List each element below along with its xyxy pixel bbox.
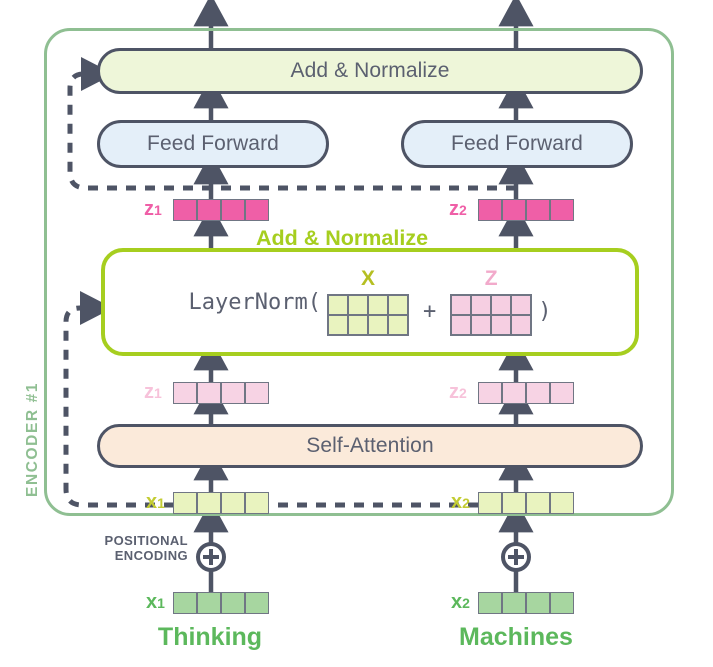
encoder-label: ENCODER #1 [24,382,42,497]
matrix-cell [368,295,388,315]
vector-cell [478,382,502,404]
vector-cell [550,382,574,404]
feed-forward-left-block[interactable]: Feed Forward [97,120,329,168]
vector-cell [245,199,269,221]
vector-cell [502,492,526,514]
matrix-row [328,315,408,335]
matrix-row [328,295,408,315]
positional-encoding-line1: POSITIONAL [105,533,188,548]
vector-cell [197,492,221,514]
matrix-cell [328,295,348,315]
vector-cell [221,199,245,221]
vector-cell [245,492,269,514]
vector-cell [197,382,221,404]
vector-x1-emb [173,592,269,614]
matrix-cell [511,295,531,315]
vector-cell [526,382,550,404]
vector-cell [197,199,221,221]
self-attention-label: Self-Attention [306,434,433,458]
vector-label-x1-emb: x1 [146,592,165,612]
add-normalize-top-label: Add & Normalize [290,59,449,83]
vector-cell [221,592,245,614]
circle-plus-icon-left [198,544,224,570]
input-word-right: Machines [416,623,616,652]
matrix-cell [348,315,368,335]
matrix-cell [491,315,511,335]
vector-cell [526,592,550,614]
vector-cell [550,199,574,221]
matrix-x-group: X [327,268,409,336]
vector-cell [502,592,526,614]
matrix-x [327,294,409,336]
vector-cell [526,199,550,221]
matrix-row [451,295,531,315]
vector-cell [502,382,526,404]
plus-operator: + [423,299,436,324]
matrix-cell [511,315,531,335]
pe-to-x-arrows [211,518,516,545]
vector-x2-enc [478,492,574,514]
diagram-canvas: ENCODER #1 Add & Normalize Feed Forward … [0,0,713,667]
feed-forward-left-label: Feed Forward [147,132,279,156]
layernorm-close-text: ) [538,299,551,324]
vector-z2-top [478,199,574,221]
vector-label-z2-top: z2 [449,199,467,219]
matrix-cell [328,315,348,335]
matrix-cell [368,315,388,335]
matrix-z-group: Z [450,268,532,336]
positional-encoding-caption: POSITIONAL ENCODING [96,533,188,563]
layernorm-block[interactable]: LayerNorm( X [101,248,639,356]
matrix-cell [491,295,511,315]
vector-z2-mid [478,382,574,404]
matrix-cell [471,315,491,335]
feed-forward-right-block[interactable]: Feed Forward [401,120,633,168]
vector-cell [173,492,197,514]
vector-z1-mid [173,382,269,404]
matrix-row [451,315,531,335]
vector-cell [478,199,502,221]
layernorm-open-text: LayerNorm( [189,290,321,315]
vector-x2-emb [478,592,574,614]
vector-cell [173,199,197,221]
positional-encoding-line2: ENCODING [115,548,188,563]
matrix-cell [348,295,368,315]
vector-cell [221,492,245,514]
matrix-cell [388,315,408,335]
vector-cell [526,492,550,514]
matrix-x-label: X [361,268,375,289]
add-normalize-top-block[interactable]: Add & Normalize [97,48,643,94]
vector-cell [550,492,574,514]
matrix-z-label: Z [485,268,498,289]
vector-cell [173,382,197,404]
vector-label-x1-enc: x1 [146,492,165,512]
embedding-to-pe-lines [211,570,516,592]
vector-cell [550,592,574,614]
vector-x1-enc [173,492,269,514]
vector-cell [173,592,197,614]
self-attention-block[interactable]: Self-Attention [97,424,643,468]
matrix-z [450,294,532,336]
vector-cell [478,592,502,614]
feed-forward-right-label: Feed Forward [451,132,583,156]
matrix-cell [451,295,471,315]
vector-cell [478,492,502,514]
vector-cell [197,592,221,614]
input-word-left: Thinking [110,623,310,652]
layernorm-expression: LayerNorm( X [105,252,635,352]
vector-cell [502,199,526,221]
vector-z1-top [173,199,269,221]
circle-plus-icon-right [503,544,529,570]
matrix-cell [451,315,471,335]
matrix-cell [388,295,408,315]
vector-label-z2-mid: z2 [449,382,467,402]
vector-cell [221,382,245,404]
vector-label-x2-enc: x2 [451,492,470,512]
vector-cell [245,382,269,404]
vector-label-z1-top: z1 [144,199,162,219]
vector-label-x2-emb: x2 [451,592,470,612]
vector-cell [245,592,269,614]
matrix-cell [471,295,491,315]
vector-label-z1-mid: z1 [144,382,162,402]
